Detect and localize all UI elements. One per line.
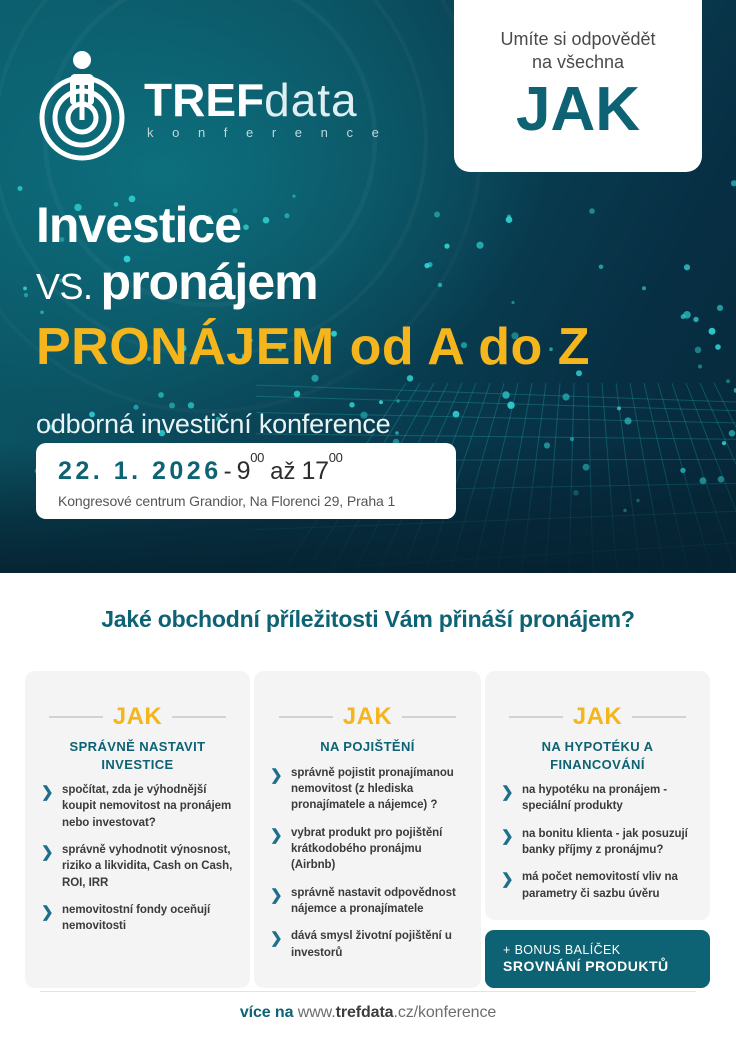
list-item: ❯ správně vyhodnotit výnosnost, riziko a… [41,842,234,891]
card-jak-word: JAK [573,705,623,729]
bonus-line2: SROVNÁNÍ PRODUKTŮ [503,958,710,974]
list-item-label: má počet nemovitostí vliv na parametry č… [522,869,694,902]
list-item-label: vybrat produkt pro pojištění krátkodobéh… [291,825,465,874]
footer-url-www: www. [298,1004,336,1021]
target-person-icon [36,46,128,164]
chevron-right-icon: ❯ [501,826,513,847]
footer-url-domain: trefdata [336,1004,394,1021]
brand-word-primary: TREF [144,74,264,126]
chevron-right-icon: ❯ [41,782,53,803]
event-date-separator: - [224,458,232,486]
chevron-right-icon: ❯ [270,885,282,906]
hero-subtitle: odborná investiční konference [36,409,590,440]
card-investice[interactable]: JAK SPRÁVNĚ NASTAVIT INVESTICE ❯ spočíta… [25,671,250,988]
bonus-line1: + BONUS BALÍČEK [503,943,710,957]
card-jak-header: JAK [501,705,694,729]
event-venue: Kongresové centrum Grandior, Na Florenci… [58,493,456,509]
divider-right [632,716,686,718]
divider-left [49,716,103,718]
list-item: ❯ má počet nemovitostí vliv na parametry… [501,869,694,902]
card-hypoteka[interactable]: JAK NA HYPOTÉKU A FINANCOVÁNÍ ❯ na hypot… [485,671,710,920]
list-item-label: spočítat, zda je výhodnější koupit nemov… [62,782,234,831]
chevron-right-icon: ❯ [41,902,53,923]
card-hypoteka-column: JAK NA HYPOTÉKU A FINANCOVÁNÍ ❯ na hypot… [485,671,710,988]
card-bullet-list: ❯ na hypotéku na pronájem - speciální pr… [501,782,694,902]
list-item: ❯ na bonitu klienta - jak posuzují banky… [501,826,694,859]
hero-headline-block: Investice VS. pronájem PRONÁJEM od A do … [36,200,590,440]
brand-word-secondary: data [264,74,358,126]
list-item-label: správně vyhodnotit výnosnost, riziko a l… [62,842,234,891]
hero-vs-label: VS. [36,266,93,308]
list-item-label: na hypotéku na pronájem - speciální prod… [522,782,694,815]
divider-left [279,716,333,718]
list-item-label: na bonitu klienta - jak posuzují banky p… [522,826,694,859]
chevron-right-icon: ❯ [270,825,282,846]
brand-logo[interactable]: TREFdata k o n f e r e n c e [36,46,386,164]
card-pojisteni[interactable]: JAK NA POJIŠTĚNÍ ❯ správně pojistit pron… [254,671,481,988]
chevron-right-icon: ❯ [270,928,282,949]
event-date-card: 22. 1. 2026 - 900 až 1700 Kongresové cen… [36,443,456,519]
card-bullet-list: ❯ spočítat, zda je výhodnější koupit nem… [41,782,234,935]
footer-prefix: více na [240,1004,294,1021]
list-item: ❯ správně nastavit odpovědnost nájemce a… [270,885,465,918]
card-jak-header: JAK [270,705,465,729]
section-title: Jaké obchodní příležitosti Vám přináší p… [0,606,736,633]
list-item-label: správně pojistit pronajímanou nemovitost… [291,765,465,814]
list-item: ❯ na hypotéku na pronájem - speciální pr… [501,782,694,815]
card-jak-word: JAK [343,705,393,729]
card-subtitle: NA POJIŠTĚNÍ [270,738,465,756]
hero-headline-pronajem: pronájem [101,253,318,311]
event-time-until-word: až [270,458,295,486]
card-jak-word: JAK [113,705,163,729]
poster-page: TREFdata k o n f e r e n c e Umíte si od… [0,0,736,1046]
card-subtitle: NA HYPOTÉKU A FINANCOVÁNÍ [501,738,694,773]
list-item: ❯ dává smysl životní pojištění u investo… [270,928,465,961]
brand-tagline: k o n f e r e n c e [144,125,386,140]
event-time-to: 1700 [301,457,342,486]
hero-headline-highlight: PRONÁJEM od A do Z [36,317,590,377]
list-item: ❯ spočítat, zda je výhodnější koupit nem… [41,782,234,831]
divider-right [402,716,456,718]
list-item: ❯ vybrat produkt pro pojištění krátkodob… [270,825,465,874]
list-item: ❯ správně pojistit pronajímanou nemovito… [270,765,465,814]
jak-badge-word: JAK [516,79,640,141]
bonus-package-button[interactable]: + BONUS BALÍČEK SROVNÁNÍ PRODUKTŮ [485,930,710,988]
jak-badge-lead-line2: na všechna [532,52,624,72]
list-item-label: správně nastavit odpovědnost nájemce a p… [291,885,465,918]
event-date: 22. 1. 2026 [58,457,222,486]
card-bullet-list: ❯ správně pojistit pronajímanou nemovito… [270,765,465,961]
footer-divider [40,991,696,992]
card-jak-header: JAK [41,705,234,729]
list-item-label: nemovitostní fondy oceňují nemovitosti [62,902,234,935]
chevron-right-icon: ❯ [501,869,513,890]
event-time-from: 900 [237,457,264,486]
chevron-right-icon: ❯ [501,782,513,803]
chevron-right-icon: ❯ [270,765,282,786]
brand-wordmark: TREFdata k o n f e r e n c e [144,71,386,140]
list-item: ❯ nemovitostní fondy oceňují nemovitosti [41,902,234,935]
jak-badge: Umíte si odpovědět na všechna JAK [454,0,702,172]
jak-badge-lead-line1: Umíte si odpovědět [500,29,655,49]
benefit-cards: JAK SPRÁVNĚ NASTAVIT INVESTICE ❯ spočíta… [25,671,711,988]
jak-badge-lead: Umíte si odpovědět na všechna [500,28,655,73]
divider-left [509,716,563,718]
hero-headline-line1: Investice [36,200,590,251]
footer-url-rest: .cz/konference [393,1004,496,1021]
card-subtitle: SPRÁVNĚ NASTAVIT INVESTICE [41,738,234,773]
list-item-label: dává smysl životní pojištění u investorů [291,928,465,961]
footer-url[interactable]: více na www.trefdata.cz/konference [0,1004,736,1022]
hero-headline-line2: VS. pronájem [36,253,590,311]
chevron-right-icon: ❯ [41,842,53,863]
event-date-row: 22. 1. 2026 - 900 až 1700 [58,457,456,486]
hero-section: TREFdata k o n f e r e n c e Umíte si od… [0,0,736,573]
divider-right [172,716,226,718]
